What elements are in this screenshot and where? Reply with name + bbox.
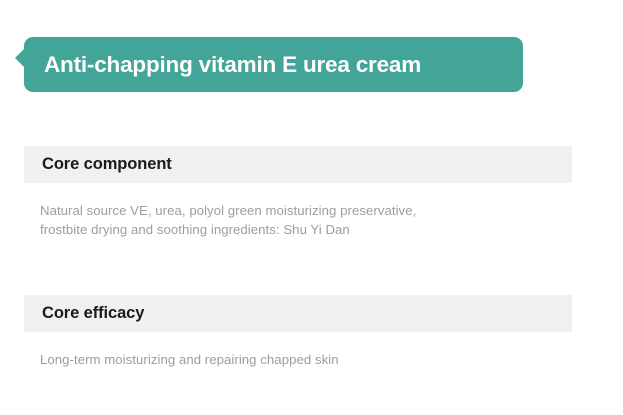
- body-text-line: frostbite drying and soothing ingredient…: [40, 221, 572, 240]
- banner-pointer-icon: [15, 49, 24, 67]
- section-header-label: Core efficacy: [42, 304, 144, 323]
- section-body: Natural source VE, urea, polyol green mo…: [24, 183, 572, 239]
- body-text-line: Natural source VE, urea, polyol green mo…: [40, 202, 572, 221]
- section-header-label: Core component: [42, 155, 172, 174]
- section-header-band: Core component: [24, 146, 572, 183]
- product-title-banner: Anti-chapping vitamin E urea cream: [24, 37, 523, 92]
- section-core-efficacy: Core efficacy Long-term moisturizing and…: [24, 295, 572, 370]
- section-core-component: Core component Natural source VE, urea, …: [24, 146, 572, 239]
- body-text-line: Long-term moisturizing and repairing cha…: [40, 351, 572, 370]
- section-header-band: Core efficacy: [24, 295, 572, 332]
- section-body: Long-term moisturizing and repairing cha…: [24, 332, 572, 370]
- product-info-card: Anti-chapping vitamin E urea cream Core …: [0, 0, 623, 415]
- product-title: Anti-chapping vitamin E urea cream: [44, 37, 511, 92]
